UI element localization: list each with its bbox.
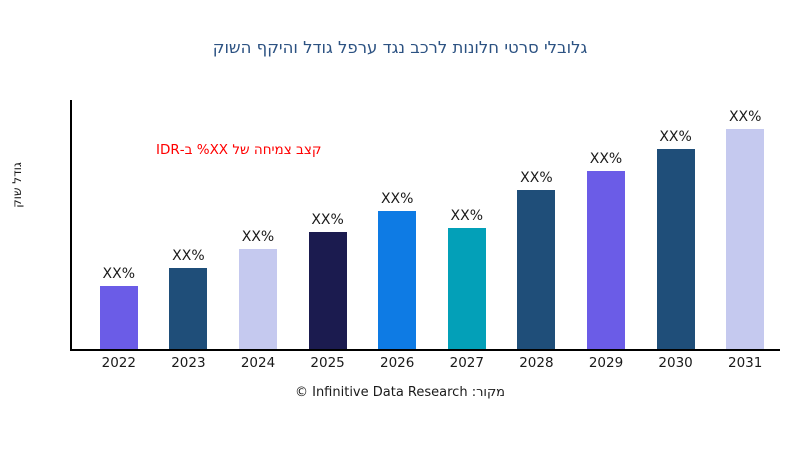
bar-value-label: XX% bbox=[712, 109, 778, 125]
x-tick-label: 2024 bbox=[225, 355, 291, 371]
plot-area: קצב צמיחה של XX% ב-IDR XX%XX%XX%XX%XX%XX… bbox=[70, 100, 780, 350]
bar[interactable] bbox=[448, 228, 486, 349]
bar[interactable] bbox=[169, 268, 207, 349]
chart-container: גלובלי סרטי חלונות לרכב נגד ערפל גודל וה… bbox=[0, 0, 800, 450]
bar-value-label: XX% bbox=[295, 212, 361, 228]
bar-group: XX% bbox=[503, 100, 569, 349]
bar-group: XX% bbox=[712, 100, 778, 349]
bar[interactable] bbox=[657, 149, 695, 349]
bar[interactable] bbox=[726, 129, 764, 349]
bar[interactable] bbox=[517, 190, 555, 349]
bar[interactable] bbox=[239, 249, 277, 349]
x-tick-label: 2031 bbox=[712, 355, 778, 371]
y-axis-label: גודל שוק bbox=[10, 130, 28, 240]
bar-value-label: XX% bbox=[643, 129, 709, 145]
bar-value-label: XX% bbox=[86, 266, 152, 282]
bar-value-label: XX% bbox=[364, 191, 430, 207]
bar-value-label: XX% bbox=[155, 248, 221, 264]
bar-value-label: XX% bbox=[573, 151, 639, 167]
bar-value-label: XX% bbox=[434, 208, 500, 224]
bar-group: XX% bbox=[573, 100, 639, 349]
x-tick-label: 2026 bbox=[364, 355, 430, 371]
bar-group: XX% bbox=[155, 100, 221, 349]
bar[interactable] bbox=[100, 286, 138, 349]
bar-value-label: XX% bbox=[225, 229, 291, 245]
bar-group: XX% bbox=[643, 100, 709, 349]
bar-value-label: XX% bbox=[503, 170, 569, 186]
x-tick-label: 2027 bbox=[434, 355, 500, 371]
bar-group: XX% bbox=[225, 100, 291, 349]
bar-group: XX% bbox=[364, 100, 430, 349]
x-tick-label: 2030 bbox=[643, 355, 709, 371]
x-tick-label: 2028 bbox=[503, 355, 569, 371]
x-axis-tick-labels: 2022202320242025202620272028202920302031 bbox=[70, 355, 780, 377]
x-tick-label: 2023 bbox=[155, 355, 221, 371]
bar[interactable] bbox=[309, 232, 347, 349]
chart-title: גלובלי סרטי חלונות לרכב נגד ערפל גודל וה… bbox=[0, 38, 800, 57]
x-tick-label: 2022 bbox=[86, 355, 152, 371]
x-tick-label: 2025 bbox=[295, 355, 361, 371]
bar-group: XX% bbox=[434, 100, 500, 349]
x-tick-label: 2029 bbox=[573, 355, 639, 371]
bar[interactable] bbox=[587, 171, 625, 349]
bar-series: XX%XX%XX%XX%XX%XX%XX%XX%XX%XX% bbox=[70, 100, 780, 350]
source-footer: מקור: Infinitive Data Research © bbox=[0, 385, 800, 400]
bar-group: XX% bbox=[86, 100, 152, 349]
bar-group: XX% bbox=[295, 100, 361, 349]
bar[interactable] bbox=[378, 211, 416, 349]
